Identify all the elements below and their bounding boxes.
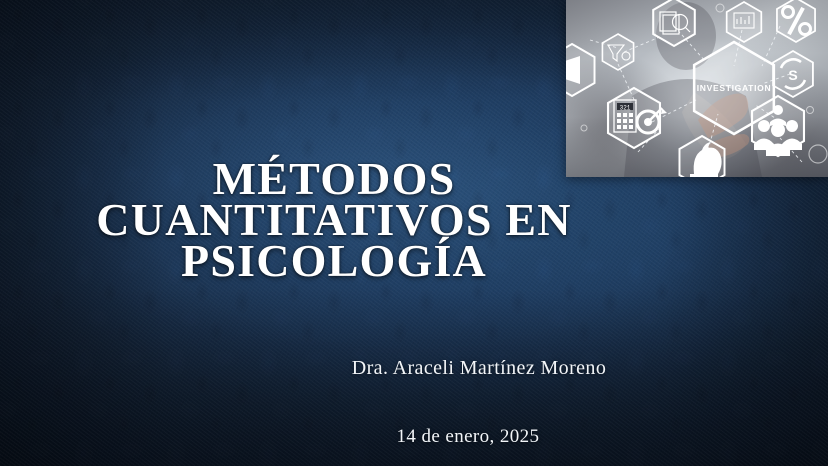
hexagon-percent	[777, 0, 815, 42]
title-line-3: PSICOLOGÍA	[0, 240, 668, 281]
megaphone-icon	[566, 56, 580, 84]
dollar-sign-icon: S	[788, 67, 797, 83]
hexagon-megaphone	[566, 44, 595, 96]
presentation-date: 14 de enero, 2025	[0, 426, 828, 448]
presentation-slide: INVESTIGATION	[0, 0, 828, 466]
investigation-infographic-image: INVESTIGATION	[566, 0, 828, 177]
hexagon-center-label: INVESTIGATION	[697, 83, 772, 93]
author-name: Dra. Araceli Martínez Moreno	[0, 357, 828, 380]
hexagon-currency-cycle: S	[773, 51, 813, 97]
calculator-display-value: 321	[620, 105, 631, 112]
hexagon-presentation-chart	[727, 2, 762, 42]
hexagon-network-graphic: INVESTIGATION	[566, 0, 828, 177]
title-line-2: CUANTITATIVOS EN	[0, 199, 668, 240]
hexagon-funnel-filter	[602, 34, 633, 70]
